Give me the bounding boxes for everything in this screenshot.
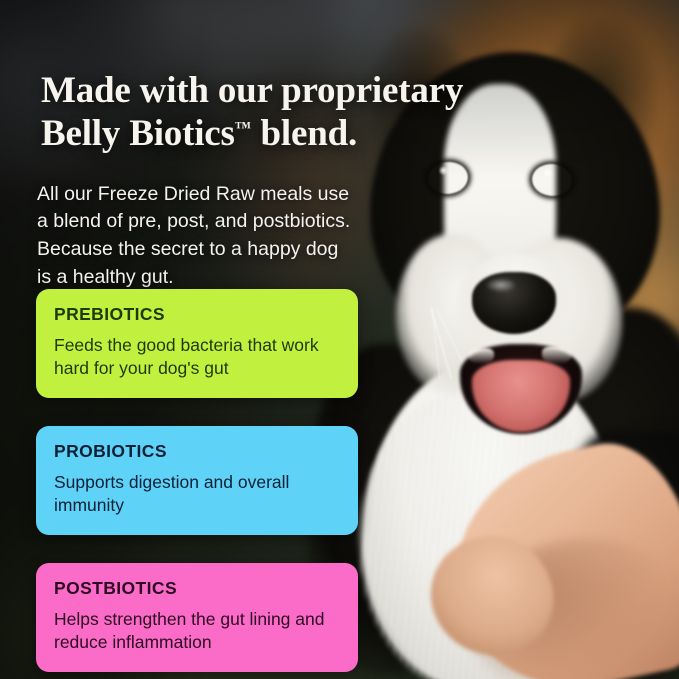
benefit-card-description: Helps strengthen the gut lining and redu…: [54, 608, 340, 655]
headline-line-2-text: Belly Biotics: [41, 113, 235, 154]
promotional-image: Made with our proprietaryBelly Biotics™ …: [0, 0, 679, 679]
benefit-card-title: POSTBIOTICS: [54, 578, 340, 599]
headline-line-1: Made with our proprietary: [41, 70, 463, 111]
page-title: Made with our proprietaryBelly Biotics™ …: [41, 69, 471, 156]
benefit-card-list: PREBIOTICS Feeds the good bacteria that …: [36, 289, 358, 672]
benefit-card-title: PREBIOTICS: [54, 304, 340, 325]
benefit-card-probiotics: PROBIOTICS Supports digestion and overal…: [36, 426, 358, 535]
content-layer: Made with our proprietaryBelly Biotics™ …: [0, 0, 679, 679]
benefit-card-title: PROBIOTICS: [54, 441, 340, 462]
benefit-card-postbiotics: POSTBIOTICS Helps strengthen the gut lin…: [36, 563, 358, 672]
headline-line-2-suffix: blend.: [251, 113, 357, 154]
benefit-card-prebiotics: PREBIOTICS Feeds the good bacteria that …: [36, 289, 358, 398]
benefit-card-description: Feeds the good bacteria that work hard f…: [54, 334, 340, 381]
trademark-symbol: ™: [235, 118, 252, 137]
body-copy: All our Freeze Dried Raw meals use a ble…: [37, 181, 357, 293]
benefit-card-description: Supports digestion and overall immunity: [54, 471, 340, 518]
